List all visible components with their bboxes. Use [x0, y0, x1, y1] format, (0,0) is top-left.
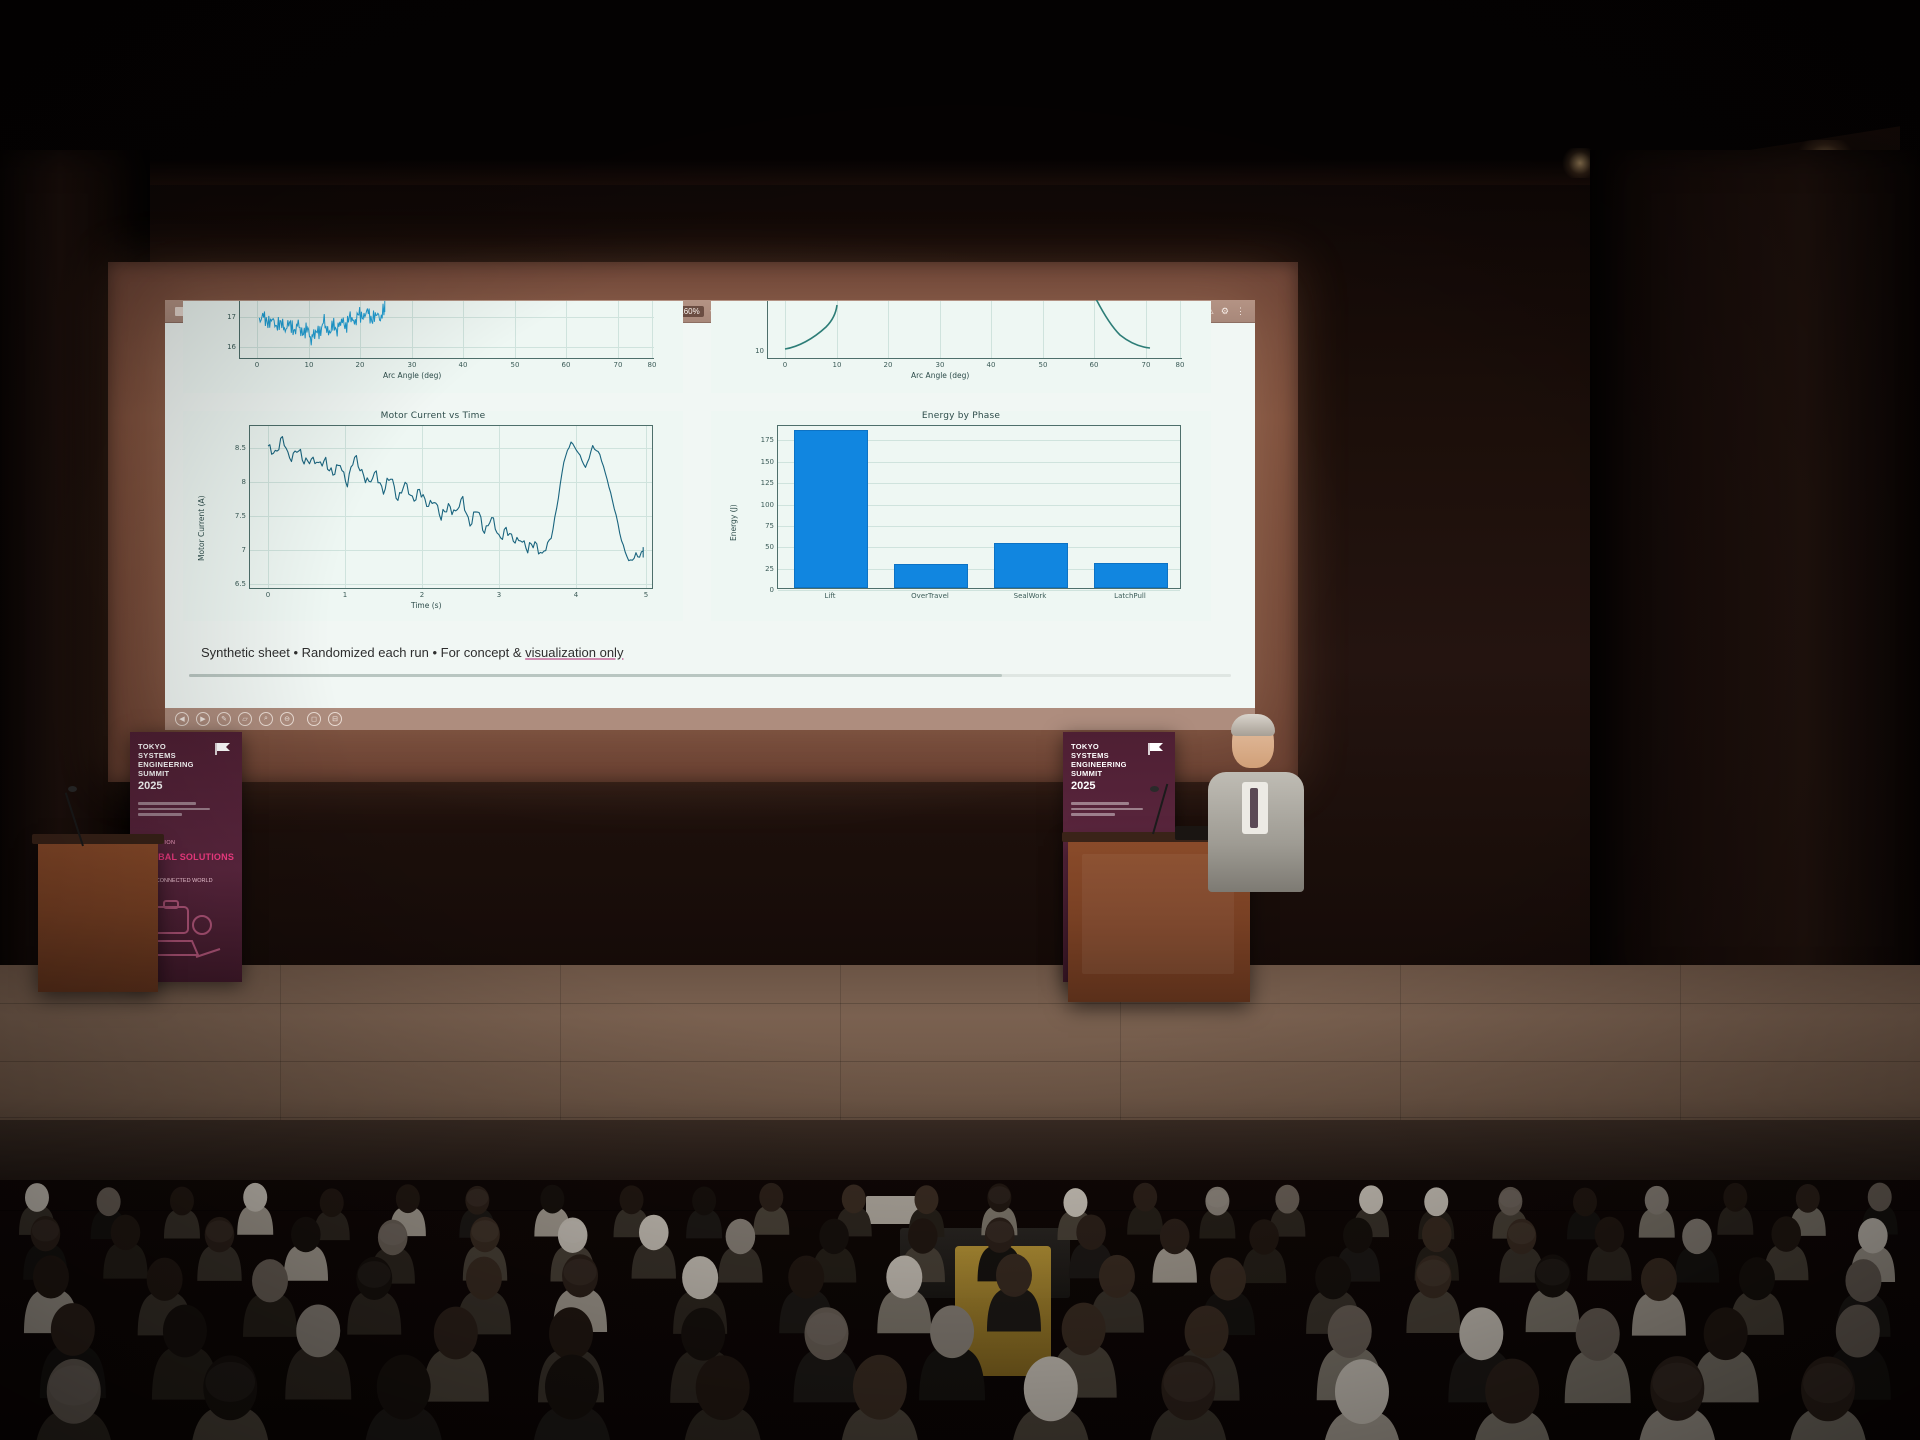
- x-tick: 60: [562, 361, 571, 369]
- y-tick: 7.5: [235, 512, 246, 520]
- x-tick: 0: [783, 361, 787, 369]
- plot-area: 10 0 10 20 30 40 50 60 70 80: [767, 301, 1182, 359]
- flag-logo-icon: [1147, 742, 1167, 756]
- curtain-right: [1590, 150, 1920, 990]
- x-tick: 30: [408, 361, 417, 369]
- x-axis-label: Arc Angle (deg): [911, 371, 969, 380]
- slide-caption: Synthetic sheet • Randomized each run • …: [201, 645, 623, 660]
- podium-left: [38, 842, 158, 992]
- plot-area: 8.5 8 7.5 7 6.5 0 1 2 3 4 5: [249, 425, 653, 589]
- series-line: [768, 301, 1183, 359]
- y-axis-label: Motor Current (A): [197, 495, 206, 561]
- category-label: SealWork: [1014, 592, 1047, 600]
- collapse-icon[interactable]: ⊟: [328, 712, 342, 726]
- category-label: LatchPull: [1114, 592, 1146, 600]
- slide-sheet: 17 16 0 10 20 30 40 50 60 70 80: [165, 323, 1255, 703]
- banner-title-line3: ENGINEERING: [1071, 760, 1167, 769]
- y-tick: 100: [761, 501, 774, 509]
- chart-motor-current: Motor Current vs Time: [183, 411, 683, 621]
- plot-area: 0 25 50 75 100 125 150 175: [777, 425, 1181, 589]
- x-tick: 60: [1090, 361, 1099, 369]
- x-axis-label: Time (s): [411, 601, 442, 610]
- y-axis-label: Energy (J): [729, 504, 738, 541]
- x-tick: 30: [936, 361, 945, 369]
- projected-document-viewer: 1 / 1 − 160% + ▯ ◐ ✎ ↺ ↻ ⚠ ⚙ ⋮: [165, 300, 1255, 730]
- y-tick: 75: [765, 522, 774, 530]
- flag-logo-icon: [214, 742, 234, 756]
- banner-year: 2025: [138, 780, 234, 792]
- horizontal-scrollbar[interactable]: [189, 674, 1231, 677]
- y-tick: 50: [765, 543, 774, 551]
- slide-page: 17 16 0 10 20 30 40 50 60 70 80: [165, 323, 1255, 730]
- series-line: [240, 301, 655, 359]
- x-tick: 0: [255, 361, 259, 369]
- bar: [1094, 563, 1168, 588]
- audience: [0, 1050, 1920, 1440]
- y-tick: 25: [765, 565, 774, 573]
- charts-area: 17 16 0 10 20 30 40 50 60 70 80: [183, 323, 1239, 631]
- chart-energy-by-phase: Energy by Phase 0 25 50: [711, 411, 1211, 621]
- speaker-tie: [1250, 788, 1258, 828]
- more-menu-icon[interactable]: ⋮: [1236, 307, 1245, 316]
- x-tick: 40: [459, 361, 468, 369]
- x-tick: 20: [356, 361, 365, 369]
- category-label: OverTravel: [911, 592, 949, 600]
- y-tick: 8.5: [235, 444, 246, 452]
- y-tick: 16: [227, 343, 236, 351]
- x-tick: 70: [1142, 361, 1151, 369]
- play-icon[interactable]: ▶: [196, 712, 210, 726]
- eraser-icon[interactable]: ▱: [238, 712, 252, 726]
- x-tick: 4: [574, 591, 578, 599]
- chart-arc-angle-top-left: 17 16 0 10 20 30 40 50 60 70 80: [183, 301, 683, 393]
- auditorium-photo: 1 / 1 − 160% + ▯ ◐ ✎ ↺ ↻ ⚠ ⚙ ⋮: [0, 0, 1920, 1440]
- x-tick: 2: [420, 591, 424, 599]
- y-tick: 0: [770, 586, 774, 594]
- x-tick: 5: [644, 591, 648, 599]
- series-line: [250, 426, 654, 590]
- x-tick: 80: [1176, 361, 1185, 369]
- y-tick: 10: [755, 347, 764, 355]
- category-label: Lift: [825, 592, 836, 600]
- x-axis-label: Arc Angle (deg): [383, 371, 441, 380]
- bar: [994, 543, 1068, 588]
- viewer-bottom-toolbar: ◀ ▶ ✎ ▱ ⌕ ⊖ ◻ ⊟: [165, 708, 1255, 730]
- speaker-hair: [1231, 714, 1275, 736]
- y-tick: 8: [242, 478, 246, 486]
- x-tick: 10: [833, 361, 842, 369]
- caption-highlight: visualization only: [525, 645, 623, 660]
- bar: [894, 564, 968, 588]
- banner-title-line4: SUMMIT: [1071, 769, 1167, 778]
- x-tick: 80: [648, 361, 657, 369]
- gear-icon[interactable]: ⚙: [1221, 307, 1229, 316]
- bar: [794, 430, 868, 588]
- y-tick: 6.5: [235, 580, 246, 588]
- x-tick: 3: [497, 591, 501, 599]
- y-tick: 175: [761, 436, 774, 444]
- x-tick: 50: [1039, 361, 1048, 369]
- caption-text: Synthetic sheet • Randomized each run • …: [201, 645, 525, 660]
- banner-title-line3: ENGINEERING: [138, 760, 234, 769]
- x-tick: 50: [511, 361, 520, 369]
- search-icon[interactable]: ⌕: [259, 712, 273, 726]
- chart-arc-angle-top-right: 10 0 10 20 30 40 50 60 70 80: [711, 301, 1211, 393]
- microphone-head-left: [68, 786, 77, 792]
- y-tick: 17: [227, 313, 236, 321]
- x-tick: 0: [266, 591, 270, 599]
- x-tick: 10: [305, 361, 314, 369]
- chart-title: Motor Current vs Time: [183, 411, 683, 421]
- x-tick: 70: [614, 361, 623, 369]
- microphone-head-right: [1150, 786, 1159, 792]
- previous-icon[interactable]: ◀: [175, 712, 189, 726]
- x-tick: 40: [987, 361, 996, 369]
- x-tick: 20: [884, 361, 893, 369]
- zoom-out-icon[interactable]: ⊖: [280, 712, 294, 726]
- banner-title-line4: SUMMIT: [138, 769, 234, 778]
- plot-area: 17 16 0 10 20 30 40 50 60 70 80: [239, 301, 654, 359]
- y-tick: 125: [761, 479, 774, 487]
- x-tick: 1: [343, 591, 347, 599]
- audience-silhouettes: [0, 1050, 1920, 1440]
- y-tick: 7: [242, 546, 246, 554]
- scrollbar-thumb[interactable]: [189, 674, 1002, 677]
- y-tick: 150: [761, 458, 774, 466]
- chart-title: Energy by Phase: [711, 411, 1211, 421]
- reset-icon[interactable]: ◻: [307, 712, 321, 726]
- pen-icon[interactable]: ✎: [217, 712, 231, 726]
